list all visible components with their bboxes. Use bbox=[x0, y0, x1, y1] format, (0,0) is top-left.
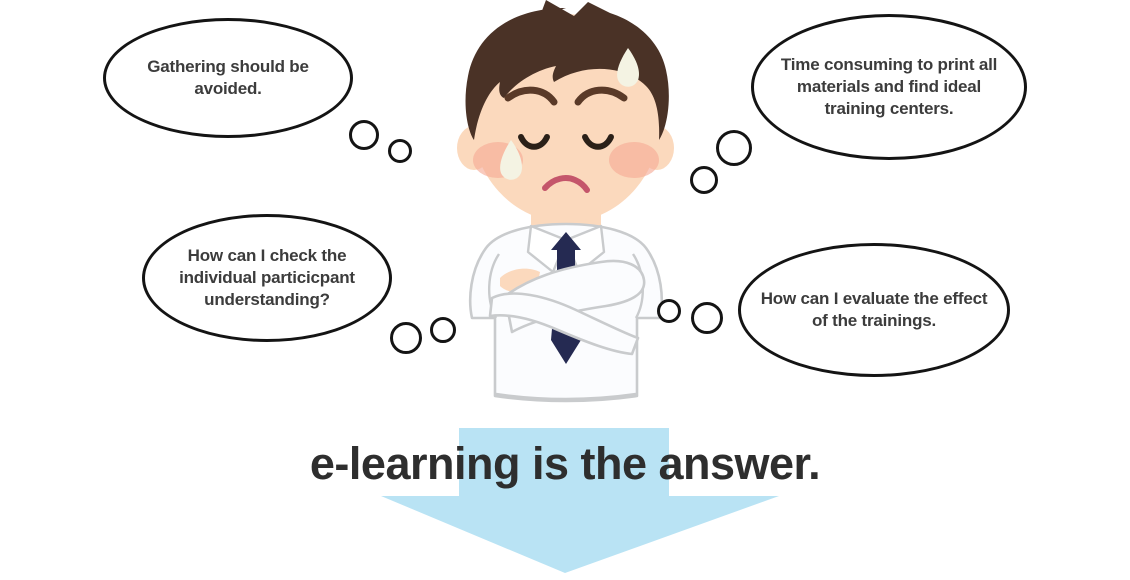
thought-dot-gathering-small bbox=[388, 139, 412, 163]
thought-dot-gathering-large bbox=[349, 120, 379, 150]
thought-dot-evaluate-small bbox=[657, 299, 681, 323]
thought-bubble-understanding: How can I check the individual particicp… bbox=[142, 214, 392, 342]
thought-bubble-evaluate: How can I evaluate the effect of the tra… bbox=[738, 243, 1010, 377]
thought-dot-understanding-small bbox=[430, 317, 456, 343]
character-body bbox=[470, 195, 662, 401]
thought-dot-understanding-large bbox=[390, 322, 422, 354]
thought-bubble-understanding-text: How can I check the individual particicp… bbox=[145, 245, 389, 310]
thought-bubble-gathering: Gathering should be avoided. bbox=[103, 18, 353, 138]
thought-dot-time-consuming-small bbox=[690, 166, 718, 194]
thought-bubble-gathering-text: Gathering should be avoided. bbox=[106, 56, 350, 100]
blush-right bbox=[609, 142, 659, 178]
thought-dot-evaluate-large bbox=[691, 302, 723, 334]
character-head bbox=[457, 0, 674, 222]
thought-bubble-evaluate-text: How can I evaluate the effect of the tra… bbox=[741, 288, 1007, 332]
thought-bubble-time-consuming-text: Time consuming to print all materials an… bbox=[754, 54, 1024, 119]
thought-dot-time-consuming-large bbox=[716, 130, 752, 166]
illustration-canvas: Gathering should be avoided. Time consum… bbox=[0, 0, 1130, 580]
banner-headline: e-learning is the answer. bbox=[0, 438, 1130, 490]
thought-bubble-time-consuming: Time consuming to print all materials an… bbox=[751, 14, 1027, 160]
